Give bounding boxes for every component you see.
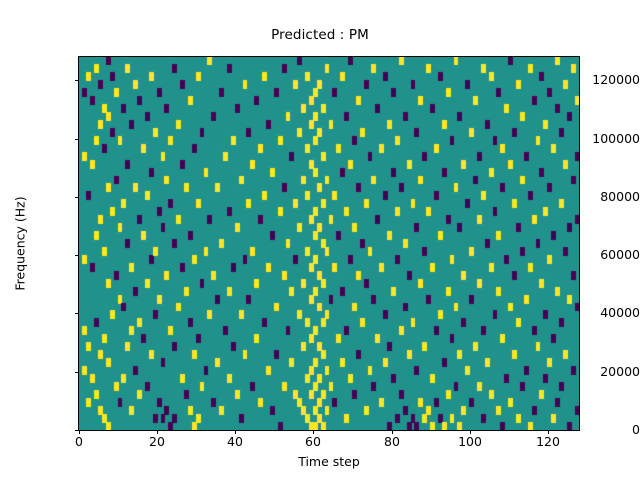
- x-tick-label: 40: [205, 436, 265, 449]
- y-tick-mark: [75, 255, 79, 256]
- y-tick-label: 0: [572, 424, 640, 437]
- x-tick-label: 80: [362, 436, 422, 449]
- plot-title: Predicted : PM: [0, 27, 640, 43]
- y-tick-label: 120000: [572, 74, 640, 87]
- x-tick-label: 120: [518, 436, 578, 449]
- x-axis-label: Time step: [79, 454, 579, 469]
- y-tick-label: 60000: [572, 249, 640, 262]
- x-tick-mark: [548, 430, 549, 434]
- x-tick-mark: [235, 430, 236, 434]
- x-tick-mark: [470, 430, 471, 434]
- y-tick-mark: [75, 139, 79, 140]
- x-tick-mark: [157, 430, 158, 434]
- y-tick-label: 100000: [572, 133, 640, 146]
- x-tick-label: 20: [127, 436, 187, 449]
- y-axis-label: Frequency (Hz): [13, 144, 28, 344]
- y-tick-mark: [75, 372, 79, 373]
- y-tick-label: 40000: [572, 307, 640, 320]
- x-tick-mark: [392, 430, 393, 434]
- y-tick-mark: [75, 313, 79, 314]
- y-tick-mark: [75, 80, 79, 81]
- x-tick-label: 100: [440, 436, 500, 449]
- x-tick-label: 60: [283, 436, 343, 449]
- y-tick-label: 20000: [572, 366, 640, 379]
- x-tick-mark: [79, 430, 80, 434]
- heatmap-image: [79, 57, 579, 430]
- x-tick-label: 0: [49, 436, 109, 449]
- figure-canvas: Predicted : PM 0200004000060000800001000…: [0, 0, 640, 480]
- x-tick-mark: [313, 430, 314, 434]
- y-tick-mark: [75, 197, 79, 198]
- y-tick-mark: [75, 430, 79, 431]
- heatmap-axes: [78, 56, 580, 431]
- y-tick-label: 80000: [572, 191, 640, 204]
